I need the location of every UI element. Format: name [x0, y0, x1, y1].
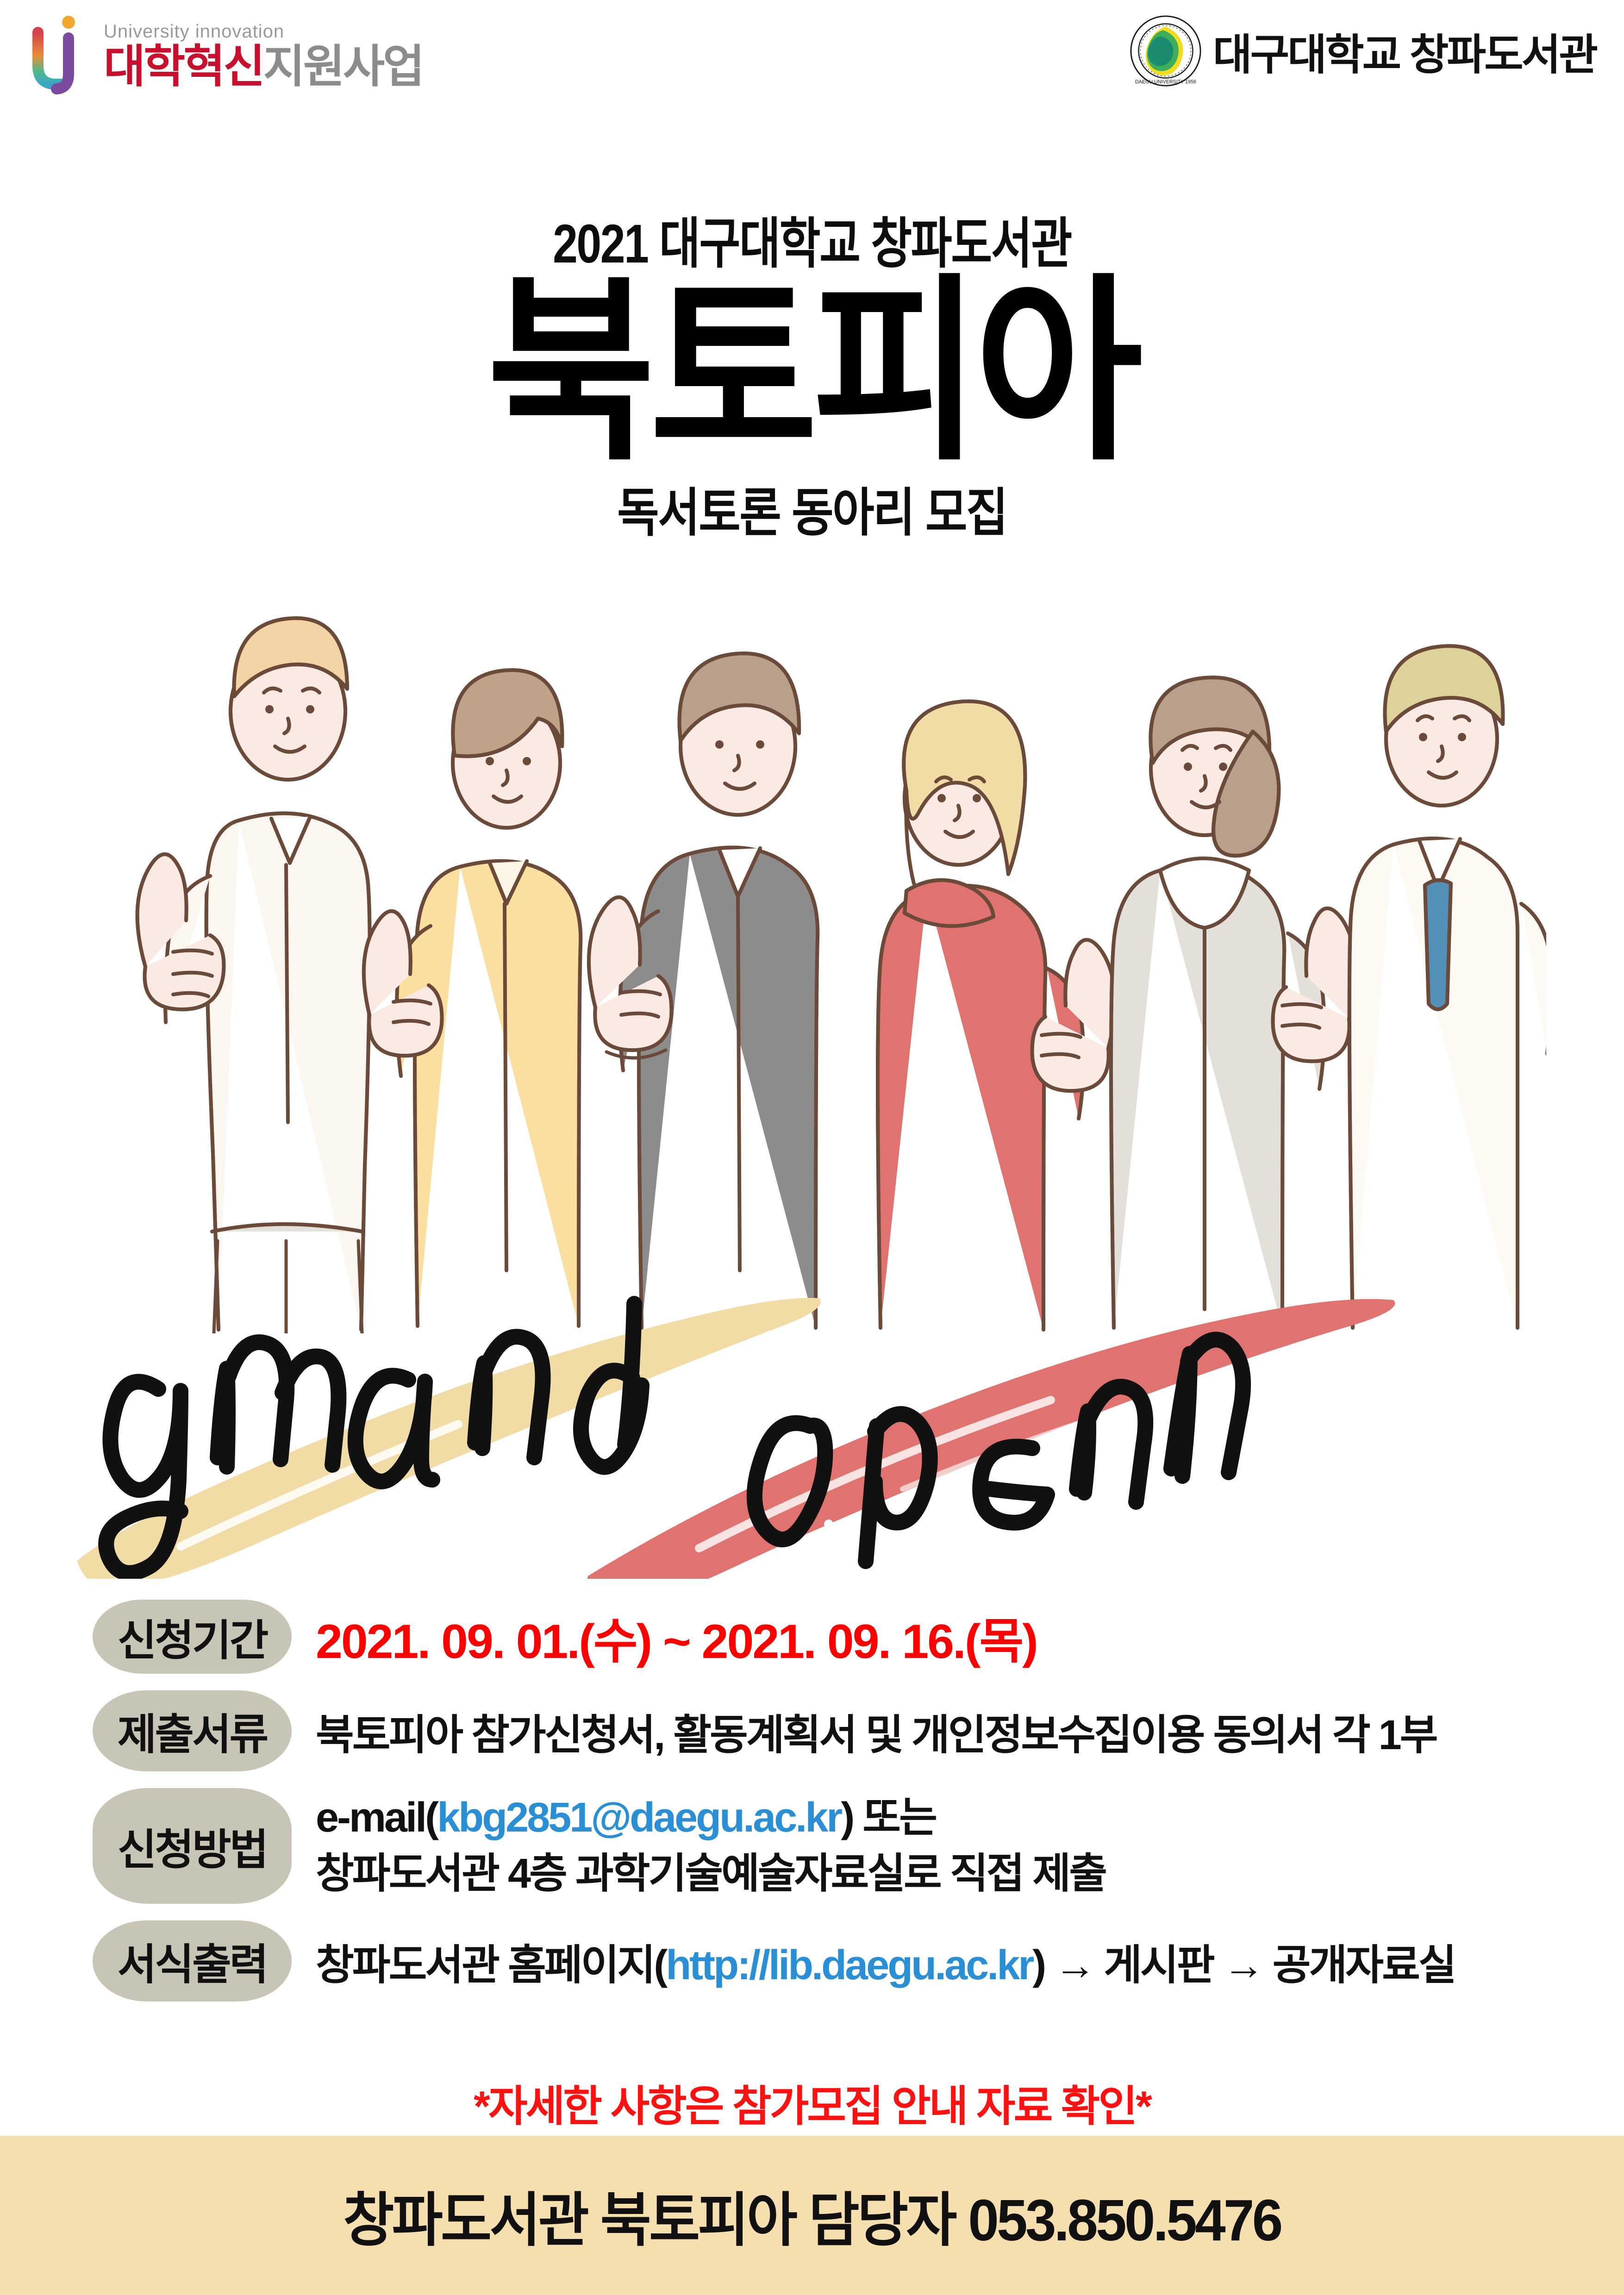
poster-canvas: University innovation 대학혁신지원사업 DAEGU UNI…: [0, 0, 1624, 2295]
homepage-prefix-text: 창파도서관 홈페이지(: [316, 1942, 666, 1989]
uj-monogram-icon: [28, 14, 97, 97]
logo-english-label: University innovation: [104, 22, 423, 41]
email-link[interactable]: kbg2851@daegu.ac.kr: [437, 1795, 841, 1841]
homepage-suffix-text: ) → 게시판 → 공개자료실: [1032, 1942, 1455, 1989]
info-value-application-period: 2021. 09. 01.(수) ~ 2021. 09. 16.(목): [292, 1600, 1037, 1674]
info-value-form-download: 창파도서관 홈페이지(http://lib.daegu.ac.kr) → 게시판…: [292, 1920, 1455, 2001]
info-table: 신청기간 2021. 09. 01.(수) ~ 2021. 09. 16.(목)…: [93, 1600, 1565, 2018]
info-value-required-documents: 북토피아 참가신청서, 활동계획서 및 개인정보수집이용 동의서 각 1부: [292, 1690, 1437, 1771]
page-title: 북토피아: [65, 281, 1559, 464]
email-suffix-text: ) 또는: [841, 1795, 936, 1841]
application-period-text: 2021. 09. 01.(수) ~ 2021. 09. 16.(목): [316, 1602, 1037, 1672]
form-download-line: 창파도서관 홈페이지(http://lib.daegu.ac.kr) → 게시판…: [316, 1931, 1455, 1991]
info-label-form-download: 서식출력: [93, 1920, 292, 2001]
detail-note: *자세한 사항은 참가모집 안내 자료 확인*: [0, 2072, 1624, 2133]
logo-korean-gray: 지원사업: [263, 41, 423, 92]
title-block: 2021 대구대학교 창파도서관 북토피아 독서토론 동아리 모집: [0, 199, 1624, 546]
contact-footer-text: 창파도서관 북토피아 담당자 053.850.5476: [343, 2173, 1280, 2257]
required-documents-text: 북토피아 참가신청서, 활동계획서 및 개인정보수집이용 동의서 각 1부: [316, 1701, 1437, 1761]
library-logo-text: 대구대학교 창파도서관: [1213, 20, 1596, 82]
svg-text:DAEGU UNIVERSITY 1956: DAEGU UNIVERSITY 1956: [1135, 79, 1196, 85]
university-innovation-logo: University innovation 대학혁신지원사업: [28, 14, 423, 97]
info-value-how-to-apply: e-mail(kbg2851@daegu.ac.kr) 또는 창파도서관 4층 …: [292, 1788, 1106, 1904]
logo-korean-red: 대학혁신: [104, 41, 263, 92]
info-label-how-to-apply: 신청방법: [93, 1788, 292, 1904]
info-row-required-documents: 제출서류 북토피아 참가신청서, 활동계획서 및 개인정보수집이용 동의서 각 …: [93, 1690, 1565, 1771]
how-to-apply-line-1: e-mail(kbg2851@daegu.ac.kr) 또는: [316, 1790, 1106, 1846]
info-row-how-to-apply: 신청방법 e-mail(kbg2851@daegu.ac.kr) 또는 창파도서…: [93, 1788, 1565, 1904]
homepage-link[interactable]: http://lib.daegu.ac.kr: [666, 1942, 1032, 1989]
email-prefix-text: e-mail(: [316, 1795, 437, 1841]
how-to-apply-line-2: 창파도서관 4층 과학기술예술자료실로 직접 제출: [316, 1846, 1106, 1902]
info-row-application-period: 신청기간 2021. 09. 01.(수) ~ 2021. 09. 16.(목): [93, 1600, 1565, 1674]
info-row-form-download: 서식출력 창파도서관 홈페이지(http://lib.daegu.ac.kr) …: [93, 1920, 1565, 2001]
poster-subtitle: 독서토론 동아리 모집: [97, 471, 1526, 546]
logo-korean-label: 대학혁신지원사업: [104, 44, 423, 89]
library-logo: DAEGU UNIVERSITY 1956 대구대학교 창파도서관: [1130, 15, 1596, 87]
daegu-university-seal-icon: DAEGU UNIVERSITY 1956: [1130, 15, 1202, 87]
grand-open-lettering: [69, 1194, 1574, 1579]
info-label-application-period: 신청기간: [93, 1600, 292, 1674]
info-label-required-documents: 제출서류: [93, 1690, 292, 1771]
contact-footer: 창파도서관 북토피아 담당자 053.850.5476: [0, 2136, 1624, 2295]
